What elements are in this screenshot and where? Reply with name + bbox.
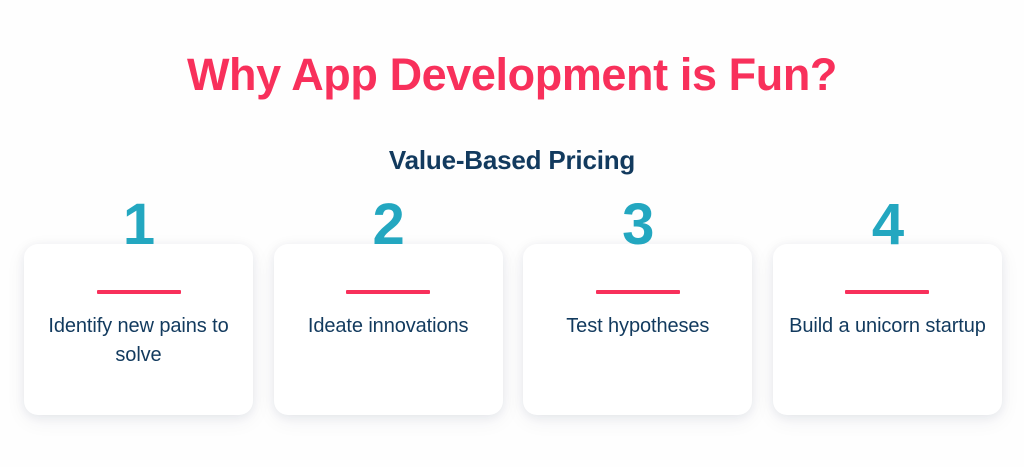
step-label-1: Identify new pains to solve [38,312,239,370]
steps-row: 1 Identify new pains to solve 2 Ideate i… [24,244,1002,415]
step-divider-4 [845,290,929,294]
step-card-2: 2 Ideate innovations [274,244,503,415]
step-card-1: 1 Identify new pains to solve [24,244,253,415]
step-divider-3 [596,290,680,294]
step-number-3: 3 [523,196,752,254]
step-label-4: Build a unicorn startup [787,312,988,341]
step-label-3: Test hypotheses [537,312,738,341]
step-divider-2 [346,290,430,294]
step-number-2: 2 [274,196,503,254]
step-number-4: 4 [773,196,1002,254]
step-card-4: 4 Build a unicorn startup [773,244,1002,415]
step-card-3: 3 Test hypotheses [523,244,752,415]
step-number-1: 1 [24,196,253,254]
slide-canvas: Why App Development is Fun? Value-Based … [0,0,1024,467]
page-title: Why App Development is Fun? [0,50,1024,100]
step-label-2: Ideate innovations [288,312,489,341]
step-divider-1 [97,290,181,294]
page-subtitle: Value-Based Pricing [0,146,1024,176]
